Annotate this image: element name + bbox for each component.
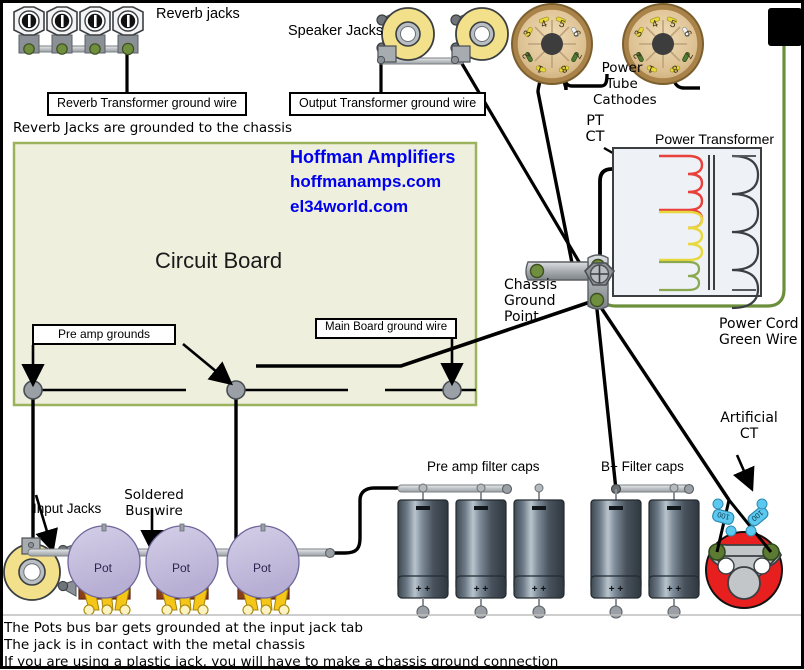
board-ground-eyelet-1	[24, 381, 42, 399]
diagram-canvas: 1 2 3 4 5 6 7 8	[0, 0, 804, 669]
footer-note-2: The jack is in contact with the metal ch…	[4, 637, 305, 653]
bplus-filter-cap-1: + +	[591, 489, 641, 618]
bplus-cap-bus-bar	[616, 485, 690, 492]
bplus-filter-cap-2: + +	[649, 484, 699, 618]
svg-text:+ +: + +	[416, 584, 431, 595]
callout-output-transformer-ground-wire: Output Transformer ground wire	[289, 92, 486, 116]
svg-text:+ +: + +	[532, 584, 547, 595]
board-ground-eyelet-2	[227, 381, 245, 399]
board-ground-eyelet-3	[443, 381, 461, 399]
preamp-filter-cap-3: + +	[514, 484, 564, 618]
reverb-jacks-group	[14, 7, 143, 55]
callout-reverb-transformer-ground-wire: Reverb Transformer ground wire	[47, 92, 247, 116]
svg-text:+ +: + +	[667, 584, 682, 595]
preamp-cap-bus-bar	[398, 485, 508, 492]
callout-pre-amp-grounds: Pre amp grounds	[32, 324, 176, 345]
brand-line-2: hoffmanamps.com	[290, 172, 441, 192]
power-cord-grommet	[768, 8, 802, 46]
preamp-filter-cap-2: + +	[456, 484, 506, 618]
svg-text:+ +: + +	[474, 584, 489, 595]
label-power-cord-green-wire: Power Cord Green Wire	[719, 316, 804, 348]
pot-label-2: Pot	[172, 561, 190, 575]
preamp-filter-cap-1: + +	[398, 484, 448, 618]
pot-label-3: Pot	[253, 561, 271, 575]
brand-line-3: el34world.com	[290, 197, 408, 217]
label-power-transformer: Power Transformer	[655, 131, 774, 147]
callout-main-board-ground-wire: Main Board ground wire	[315, 318, 457, 339]
label-reverb-jacks: Reverb jacks	[156, 6, 240, 22]
power-transformer-symbol	[613, 148, 761, 308]
brand-line-1: Hoffman Amplifiers	[290, 147, 455, 168]
label-pre-amp-filter-caps: Pre amp filter caps	[427, 459, 540, 474]
pot-label-1: Pot	[94, 561, 112, 575]
note-reverb-grounded: Reverb Jacks are grounded to the chassis	[13, 120, 292, 136]
label-artificial-ct: Artificial CT	[718, 410, 780, 442]
label-pt-ct: PT CT	[578, 113, 612, 145]
label-bplus-filter-caps: B+ Filter caps	[601, 459, 684, 474]
label-soldered-bus-wire: Soldered Bus wire	[120, 487, 188, 519]
label-speaker-jacks: Speaker Jacks	[288, 23, 383, 39]
circuit-board-title: Circuit Board	[155, 248, 282, 274]
label-input-jacks: Input Jacks	[33, 501, 101, 516]
artificial-ct-assembly: 100 100	[706, 499, 782, 608]
label-power-tube-cathodes: Power Tube Cathodes	[593, 60, 651, 108]
power-tube-socket-1: 1 2 3 4 5 6 7 8	[512, 4, 592, 84]
svg-text:+ +: + +	[609, 584, 624, 595]
input-jack	[4, 538, 76, 600]
footer-note-1: The Pots bus bar gets grounded at the in…	[4, 620, 363, 636]
label-chassis-ground-point: Chassis Ground Point	[504, 277, 574, 325]
speaker-jacks-group	[377, 8, 508, 64]
footer-note-3: If you are using a plastic jack, you wil…	[4, 654, 558, 670]
